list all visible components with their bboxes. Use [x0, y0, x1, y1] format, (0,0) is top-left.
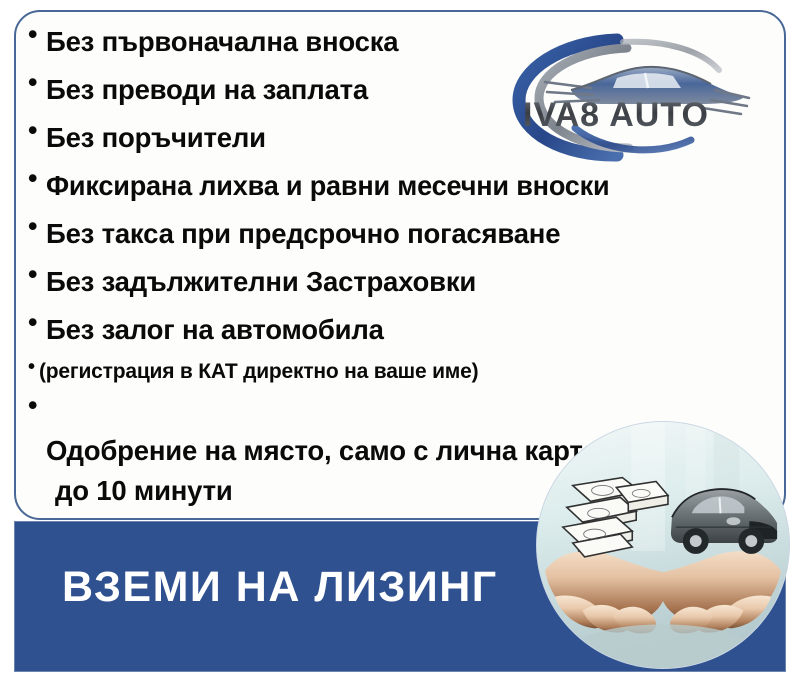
- list-item-label: Без преводи на заплата: [46, 68, 368, 112]
- bullet-dot-icon: •: [28, 20, 46, 48]
- list-item-label: Фиксирана лихва и равни месечни вноски: [46, 164, 609, 208]
- bullet-dot-icon: •: [28, 260, 46, 288]
- list-item: • Без задължителни Застраховки: [28, 260, 768, 304]
- bullet-dot-icon: •: [28, 68, 46, 96]
- leasing-advertisement-poster: • Без първоначална вноска • Без преводи …: [0, 0, 800, 698]
- bullet-dot-icon: •: [28, 116, 46, 144]
- list-item-note: • (регистрация в КАТ директно на ваше им…: [28, 356, 768, 388]
- bullet-dot-icon: •: [28, 212, 46, 240]
- bullet-dot-icon: •: [28, 356, 39, 377]
- list-item-label: Без такса при предсрочно погасяване: [46, 212, 560, 256]
- list-item-label: Без поръчители: [46, 116, 266, 160]
- hands-holding-money-and-car-photo: [536, 421, 790, 669]
- list-item: • Без залог на автомобила: [28, 308, 768, 352]
- list-item-label: Без задължителни Застраховки: [46, 260, 476, 304]
- bullet-dot-icon: •: [28, 391, 46, 419]
- ivas-auto-logo: IVA8 AUTO: [505, 28, 755, 163]
- list-item-note-label: (регистрация в КАТ директно на ваше име): [39, 356, 478, 388]
- list-item-final-line2: до 10 минути: [46, 471, 598, 511]
- bullet-dot-icon: •: [28, 164, 46, 192]
- list-item-label: Без първоначална вноска: [46, 20, 398, 64]
- list-item: • Без такса при предсрочно погасяване: [28, 212, 768, 256]
- list-item: • Фиксирана лихва и равни месечни вноски: [28, 164, 768, 208]
- list-item-final-line1: Одобрение на място, само с лична карта: [46, 435, 598, 466]
- bullet-dot-icon: •: [28, 308, 46, 336]
- logo-wordmark: IVA8 AUTO: [523, 96, 709, 134]
- list-item-label: Без залог на автомобила: [46, 308, 384, 352]
- cta-banner-headline: ВЗЕМИ НА ЛИЗИНГ: [62, 566, 498, 609]
